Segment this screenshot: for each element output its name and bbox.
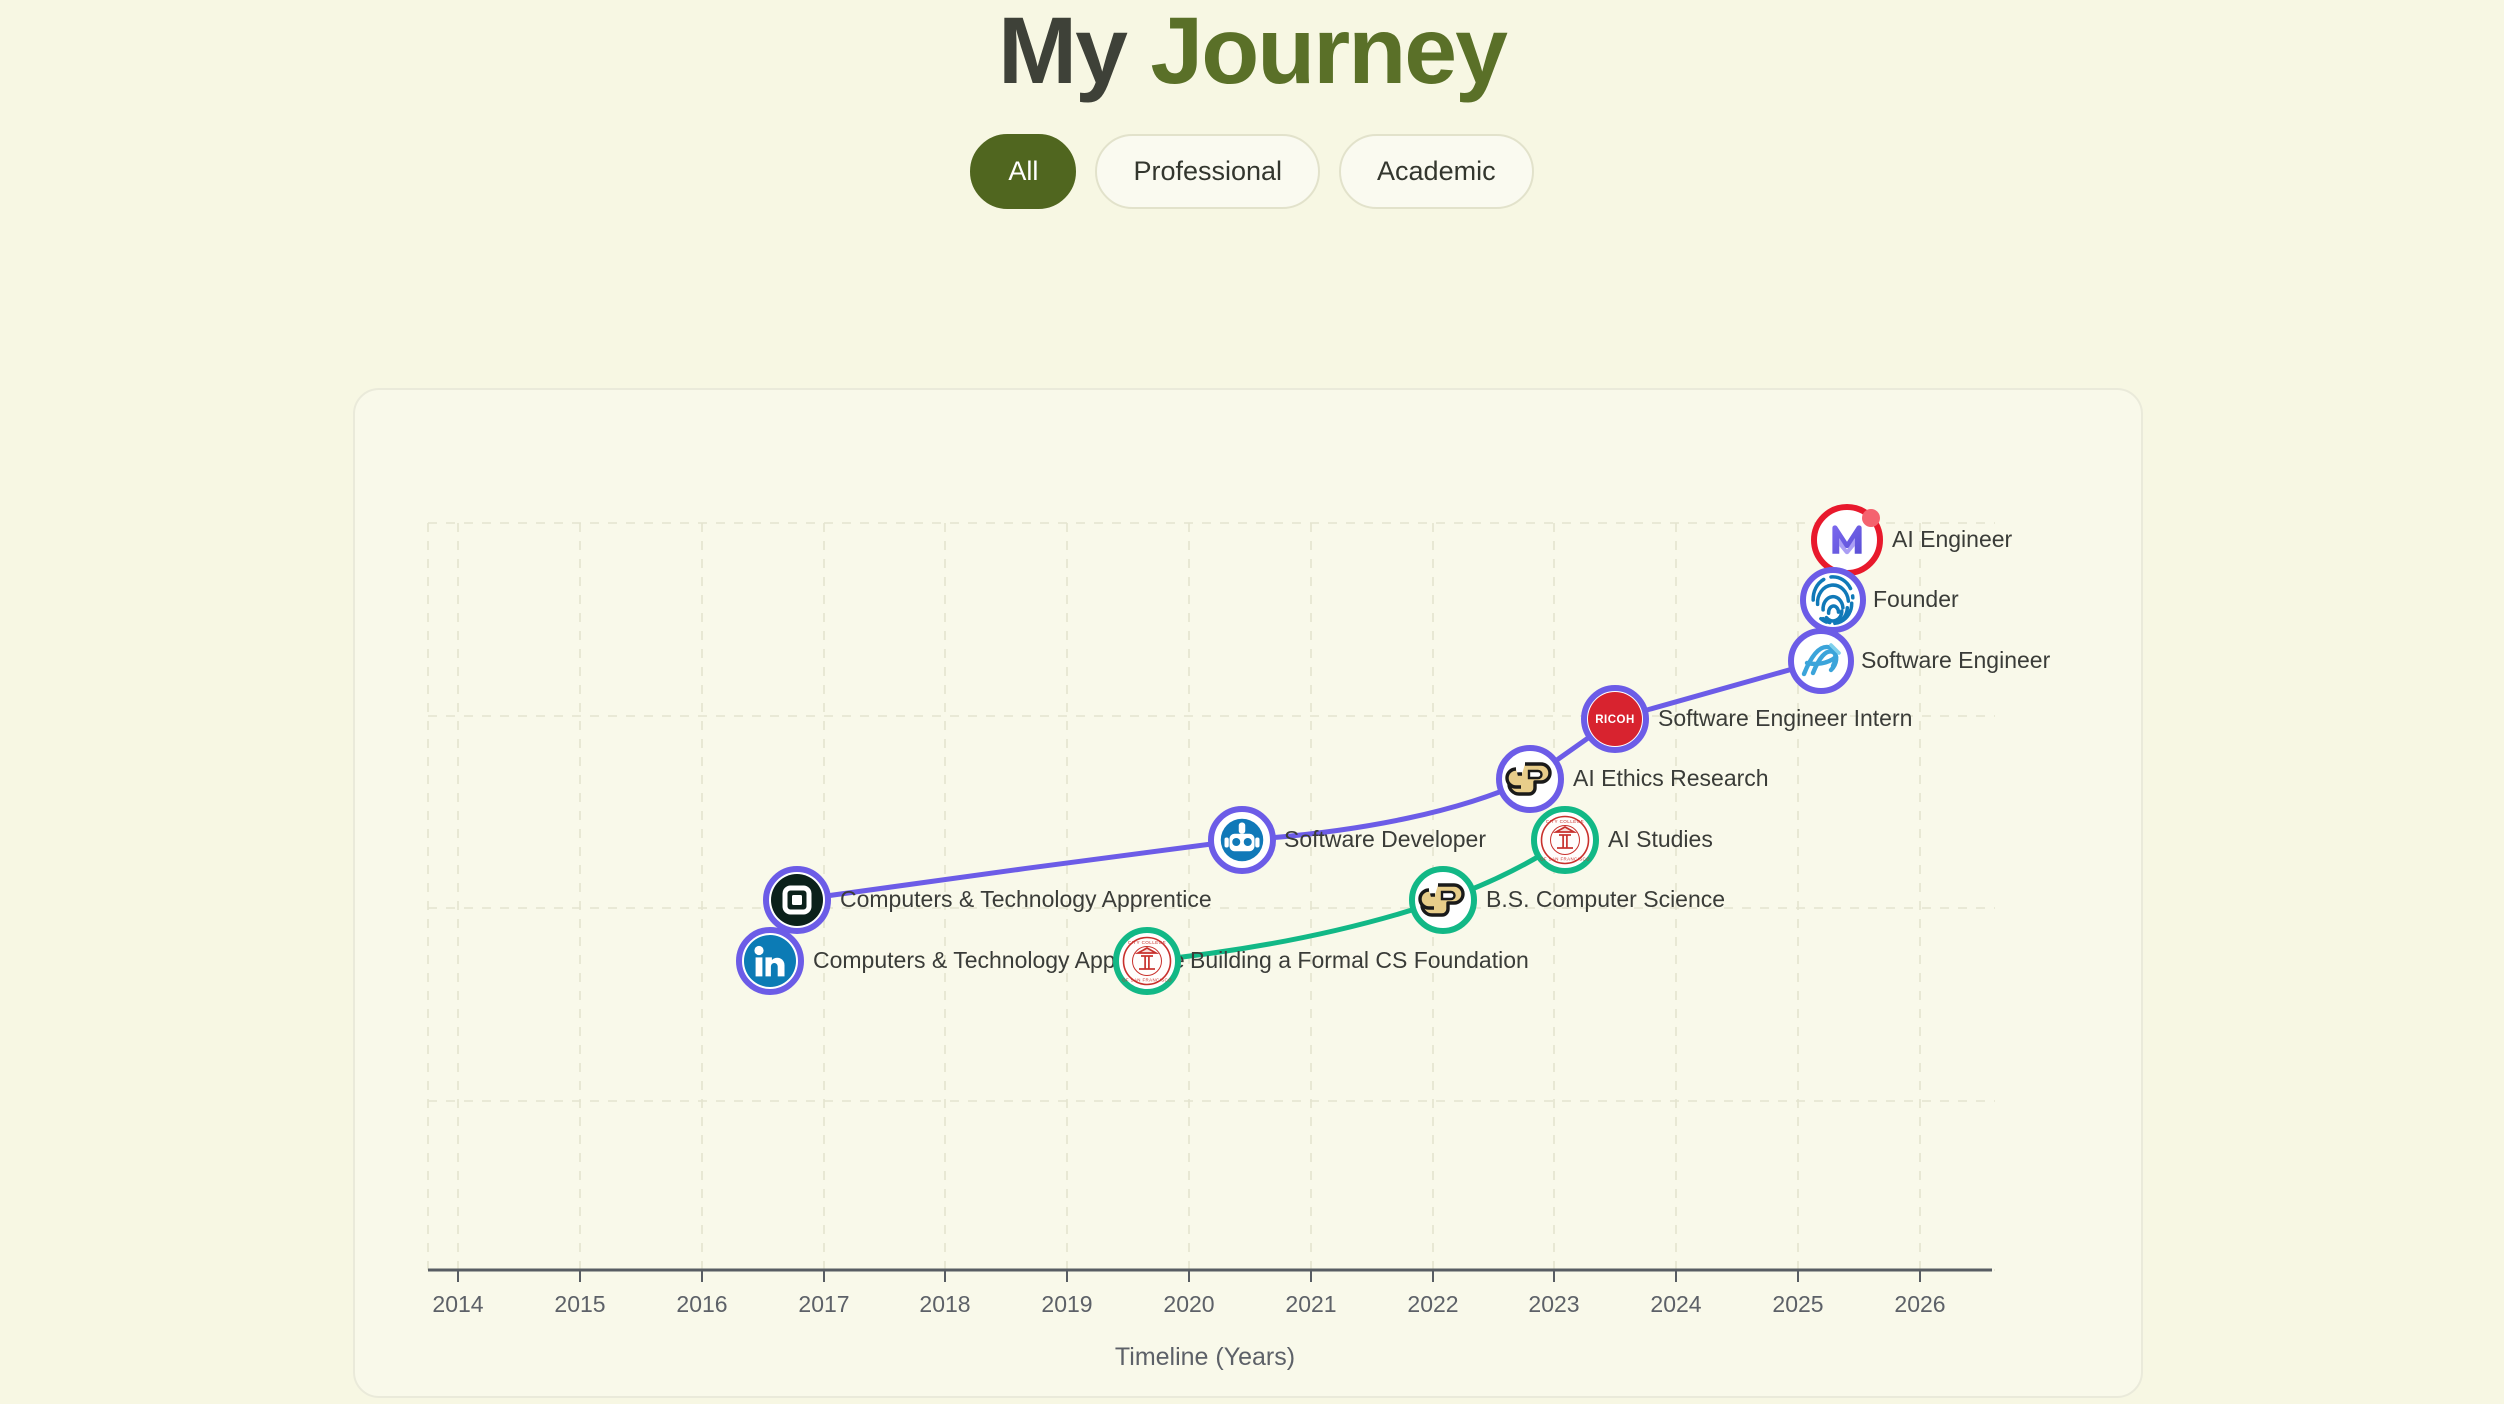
filter-bar: All Professional Academic [0, 134, 2504, 209]
filter-chip-all[interactable]: All [970, 134, 1076, 209]
node-label-bs-computer-science: B.S. Computer Science [1486, 886, 1725, 912]
x-tick-2014: 2014 [432, 1291, 483, 1317]
x-tick-2023: 2023 [1528, 1291, 1579, 1317]
x-tick-2024: 2024 [1650, 1291, 1701, 1317]
node-label-software-engineer-intern: Software Engineer Intern [1658, 705, 1912, 731]
x-axis: 2014 2015 2016 2017 2018 2019 2020 2021 … [428, 1270, 1992, 1371]
x-tick-2022: 2022 [1407, 1291, 1458, 1317]
node-label-computers-technology-apprentice-square: Computers & Technology Apprentice [840, 886, 1212, 912]
node-label-ai-studies: AI Studies [1608, 826, 1713, 852]
page-title: My Journey [0, 2, 2504, 102]
node-label-building-formal-cs-foundation: Building a Formal CS Foundation [1190, 947, 1529, 973]
node-software-developer[interactable]: Software Developer [1211, 809, 1486, 871]
x-tick-2025: 2025 [1772, 1291, 1823, 1317]
x-tick-2019: 2019 [1041, 1291, 1092, 1317]
page-title-part-2: Journey [1150, 0, 1506, 104]
x-tick-2021: 2021 [1285, 1291, 1336, 1317]
node-building-formal-cs-foundation[interactable]: Building a Formal CS Foundation [1116, 930, 1529, 992]
x-tick-2026: 2026 [1894, 1291, 1945, 1317]
page-header: My Journey All Professional Academic [0, 0, 2504, 209]
x-tick-2020: 2020 [1163, 1291, 1214, 1317]
x-tick-2017: 2017 [798, 1291, 849, 1317]
page-title-part-1: My [998, 0, 1150, 104]
x-tick-2015: 2015 [554, 1291, 605, 1317]
x-tick-2016: 2016 [676, 1291, 727, 1317]
node-ai-engineer[interactable]: AI Engineer [1814, 507, 2013, 573]
node-label-ai-ethics-research: AI Ethics Research [1573, 765, 1769, 791]
node-computers-technology-apprentice-square[interactable]: Computers & Technology Apprentice [766, 869, 1212, 931]
timeline-chart-card: RICOH [353, 388, 2143, 1398]
x-tick-2018: 2018 [919, 1291, 970, 1317]
node-ai-ethics-research[interactable]: AI Ethics Research [1499, 748, 1769, 810]
node-ai-studies[interactable]: AI Studies [1534, 809, 1713, 871]
node-founder[interactable]: Founder [1803, 570, 1959, 630]
notification-badge-icon [1862, 509, 1880, 527]
node-software-engineer-intern[interactable]: Software Engineer Intern [1584, 688, 1912, 750]
x-axis-title: Timeline (Years) [1115, 1343, 1295, 1371]
filter-chip-professional[interactable]: Professional [1095, 134, 1320, 209]
node-label-ai-engineer: AI Engineer [1892, 526, 2013, 552]
filter-chip-academic[interactable]: Academic [1339, 134, 1534, 209]
node-label-founder: Founder [1873, 586, 1959, 612]
node-label-software-engineer: Software Engineer [1861, 647, 2051, 673]
timeline-chart[interactable]: RICOH [355, 390, 2143, 1398]
node-label-software-developer: Software Developer [1284, 826, 1486, 852]
node-bs-computer-science[interactable]: B.S. Computer Science [1412, 869, 1725, 931]
